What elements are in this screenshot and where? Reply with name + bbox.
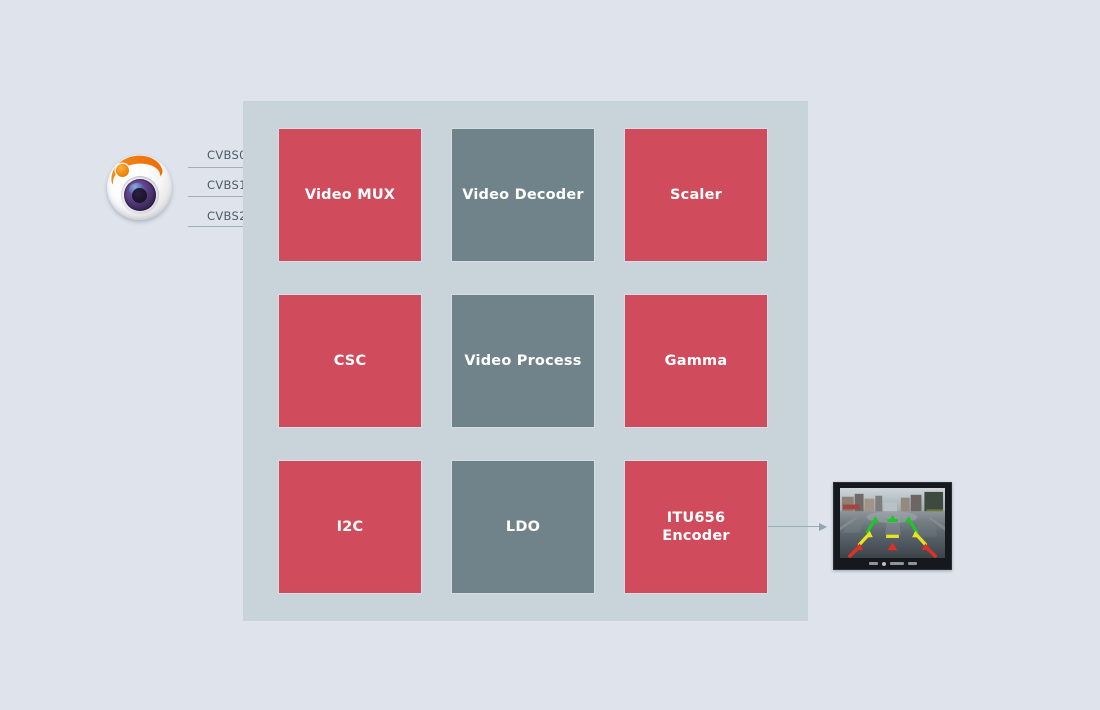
camera-shutter-dot (116, 164, 129, 177)
block-ldo[interactable]: LDO (452, 461, 594, 593)
display-monitor-icon (833, 482, 952, 570)
block-gamma[interactable]: Gamma (625, 295, 767, 427)
block-label: LDO (506, 518, 540, 536)
block-label: ITU656 Encoder (662, 509, 730, 545)
block-label: I2C (337, 518, 364, 536)
display-bezel-controls[interactable] (834, 559, 951, 568)
block-label: Scaler (670, 186, 722, 204)
camera-lens (124, 179, 156, 211)
block-csc[interactable]: CSC (279, 295, 421, 427)
block-i2c[interactable]: I2C (279, 461, 421, 593)
rearview-camera-image (840, 488, 945, 558)
block-scaler[interactable]: Scaler (625, 129, 767, 261)
signal-label-cvbs1: CVBS1 (207, 178, 247, 192)
block-label: Video Decoder (462, 186, 584, 204)
signal-label-cvbs2: CVBS2 (207, 209, 247, 223)
signal-label-cvbs0: CVBS0 (207, 148, 247, 162)
display-screen (840, 488, 945, 558)
block-video-process[interactable]: Video Process (452, 295, 594, 427)
block-itu656-encoder[interactable]: ITU656 Encoder (625, 461, 767, 593)
bezel-button[interactable] (908, 562, 917, 565)
block-label: Gamma (665, 352, 728, 370)
camera-body (107, 155, 172, 220)
block-video-mux[interactable]: Video MUX (279, 129, 421, 261)
block-label: Video MUX (305, 186, 395, 204)
diagram-canvas: CVBS0 CVBS1 CVBS2 Video MUX Video Decode… (0, 0, 1100, 710)
bezel-button[interactable] (869, 562, 878, 565)
bezel-button[interactable] (890, 562, 904, 565)
camera-icon (107, 155, 172, 220)
block-video-decoder[interactable]: Video Decoder (452, 129, 594, 261)
block-label: CSC (334, 352, 367, 370)
block-label: Video Process (464, 352, 581, 370)
bezel-indicator-dot (882, 562, 886, 566)
output-arrow-to-display (768, 526, 826, 527)
